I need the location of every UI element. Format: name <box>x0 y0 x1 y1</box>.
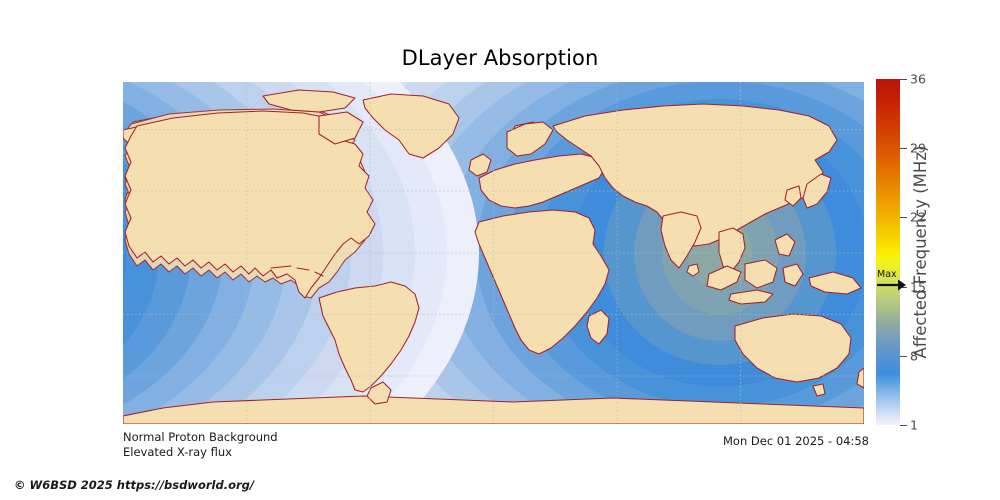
landmass-india <box>661 212 701 268</box>
colorbar-tick-22 <box>900 217 907 218</box>
coastline-layer <box>123 82 864 424</box>
landmass-british-isles <box>469 154 491 176</box>
colorbar-tick-29 <box>900 148 907 149</box>
page-title: DLayer Absorption <box>0 46 1000 70</box>
landmass-java <box>729 290 773 304</box>
colorbar-tick-8 <box>900 356 907 357</box>
colorbar-tick-36 <box>900 79 907 80</box>
landmass-arctic-islands <box>263 90 355 112</box>
landmass-southeast-asia <box>719 228 745 272</box>
landmass-new-zealand <box>857 368 864 388</box>
copyright-label: © W6BSD 2025 https://bsdworld.org/ <box>14 478 254 492</box>
colorbar-tick-15 <box>900 287 907 288</box>
landmass-sulawesi <box>783 264 803 286</box>
landmass-borneo <box>745 260 777 288</box>
landmass-tasmania <box>813 384 825 396</box>
landmass-madagascar <box>587 310 609 344</box>
landmass-new-guinea <box>809 272 861 294</box>
world-map-plot <box>123 82 864 424</box>
landmass-australia <box>735 314 851 382</box>
landmass-greenland <box>363 94 459 158</box>
colorbar-axis-label: Affected Frequency (MHz) <box>908 79 932 425</box>
landmass-sumatra <box>707 266 741 290</box>
timestamp-label: Mon Dec 01 2025 - 04:58 <box>723 434 869 448</box>
landmass-antarctica <box>123 396 864 424</box>
colorbar <box>876 79 900 425</box>
proton-status-note: Normal Proton Background <box>123 430 278 444</box>
landmass-sri-lanka <box>687 264 699 276</box>
colorbar-gradient <box>876 79 900 425</box>
xray-status-note: Elevated X-ray flux <box>123 445 232 459</box>
colorbar-tick-1 <box>900 425 907 426</box>
landmass-philippines <box>775 234 795 256</box>
landmass-south-america <box>319 282 419 392</box>
landmass-europe <box>479 154 605 208</box>
landmass-scandinavia <box>507 122 553 156</box>
